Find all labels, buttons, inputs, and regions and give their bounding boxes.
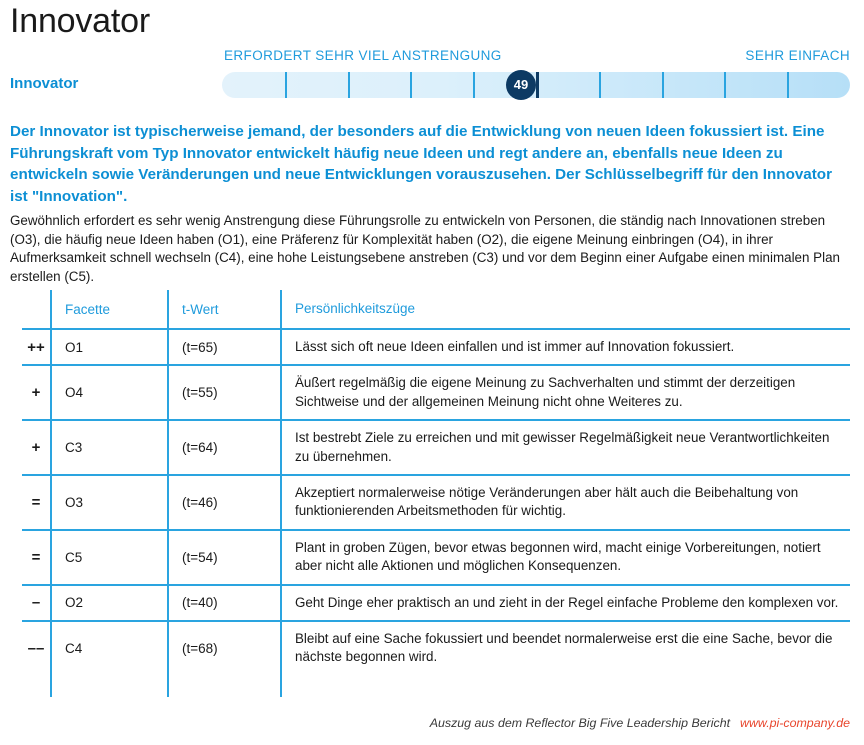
header-facet: Facette [50,290,167,328]
scale-tick [787,72,789,98]
table-header-row: Facette t-Wert Persönlichkeitszüge [22,290,850,330]
cell-facet: O3 [50,476,167,529]
score-scale-block: ERFORDERT SEHR VIEL ANSTRENGUNG SEHR EIN… [0,48,864,106]
cell-description: Plant in groben Zügen, bevor etwas begon… [280,531,850,584]
scale-score-marker: 49 [506,70,536,100]
scale-marker-tick [536,72,539,98]
cell-facet: C3 [50,421,167,474]
cell-facet: O4 [50,366,167,419]
cell-facet: O2 [50,586,167,620]
scale-caption-right: SEHR EINFACH [730,48,850,63]
cell-tvalue: (t=40) [167,586,280,620]
scale-tick [348,72,350,98]
scale-tick [599,72,601,98]
cell-description: Lässt sich oft neue Ideen einfallen und … [280,330,850,364]
footer: Auszug aus dem Reflector Big Five Leader… [0,716,850,730]
footer-source: Auszug aus dem Reflector Big Five Leader… [430,716,730,730]
scale-tick [724,72,726,98]
cell-sign: + [22,421,50,474]
cell-facet: O1 [50,330,167,364]
table-row: =C5(t=54)Plant in groben Zügen, bevor et… [22,531,850,586]
cell-description: Äußert regelmäßig die eigene Meinung zu … [280,366,850,419]
table-row: +O4(t=55)Äußert regelmäßig die eigene Me… [22,366,850,421]
table-row: ––C4(t=68)Bleibt auf eine Sache fokussie… [22,622,850,675]
scale-row-label: Innovator [10,75,78,92]
cell-description: Ist bestrebt Ziele zu erreichen und mit … [280,421,850,474]
header-tvalue: t-Wert [167,290,280,328]
tail-tvalue-cell [167,675,280,697]
cell-sign: ++ [22,330,50,364]
table-row: =O3(t=46)Akzeptiert normalerweise nötige… [22,476,850,531]
tail-facet-cell [50,675,167,697]
cell-tvalue: (t=68) [167,622,280,675]
facet-table: Facette t-Wert Persönlichkeitszüge ++O1(… [22,290,850,697]
cell-sign: = [22,476,50,529]
table-row: +C3(t=64)Ist bestrebt Ziele zu erreichen… [22,421,850,476]
scale-tick [285,72,287,98]
cell-facet: C5 [50,531,167,584]
intro-paragraph: Der Innovator ist typischerweise jemand,… [10,121,846,207]
scale-tick [662,72,664,98]
page-title: Innovator [10,0,150,42]
cell-tvalue: (t=46) [167,476,280,529]
cell-sign: = [22,531,50,584]
cell-description: Geht Dinge eher praktisch an und zieht i… [280,586,850,620]
scale-tick [410,72,412,98]
tail-sign-cell [22,675,50,697]
table-row: –O2(t=40)Geht Dinge eher praktisch an un… [22,586,850,622]
cell-facet: C4 [50,622,167,675]
scale-caption-left: ERFORDERT SEHR VIEL ANSTRENGUNG [224,48,502,63]
footer-url[interactable]: www.pi-company.de [740,716,850,730]
cell-sign: –– [22,622,50,675]
cell-tvalue: (t=64) [167,421,280,474]
body-paragraph: Gewöhnlich erfordert es sehr wenig Anstr… [10,212,856,286]
cell-tvalue: (t=54) [167,531,280,584]
cell-description: Akzeptiert normalerweise nötige Veränder… [280,476,850,529]
cell-tvalue: (t=65) [167,330,280,364]
cell-sign: – [22,586,50,620]
tail-desc-cell [280,675,850,697]
table-row: ++O1(t=65)Lässt sich oft neue Ideen einf… [22,330,850,366]
scale-tick [473,72,475,98]
table-body: ++O1(t=65)Lässt sich oft neue Ideen einf… [22,330,850,675]
cell-tvalue: (t=55) [167,366,280,419]
header-description: Persönlichkeitszüge [280,290,850,328]
cell-sign: + [22,366,50,419]
table-column-rule-tail [22,675,850,697]
cell-description: Bleibt auf eine Sache fokussiert und bee… [280,622,850,675]
header-sign [22,290,50,328]
